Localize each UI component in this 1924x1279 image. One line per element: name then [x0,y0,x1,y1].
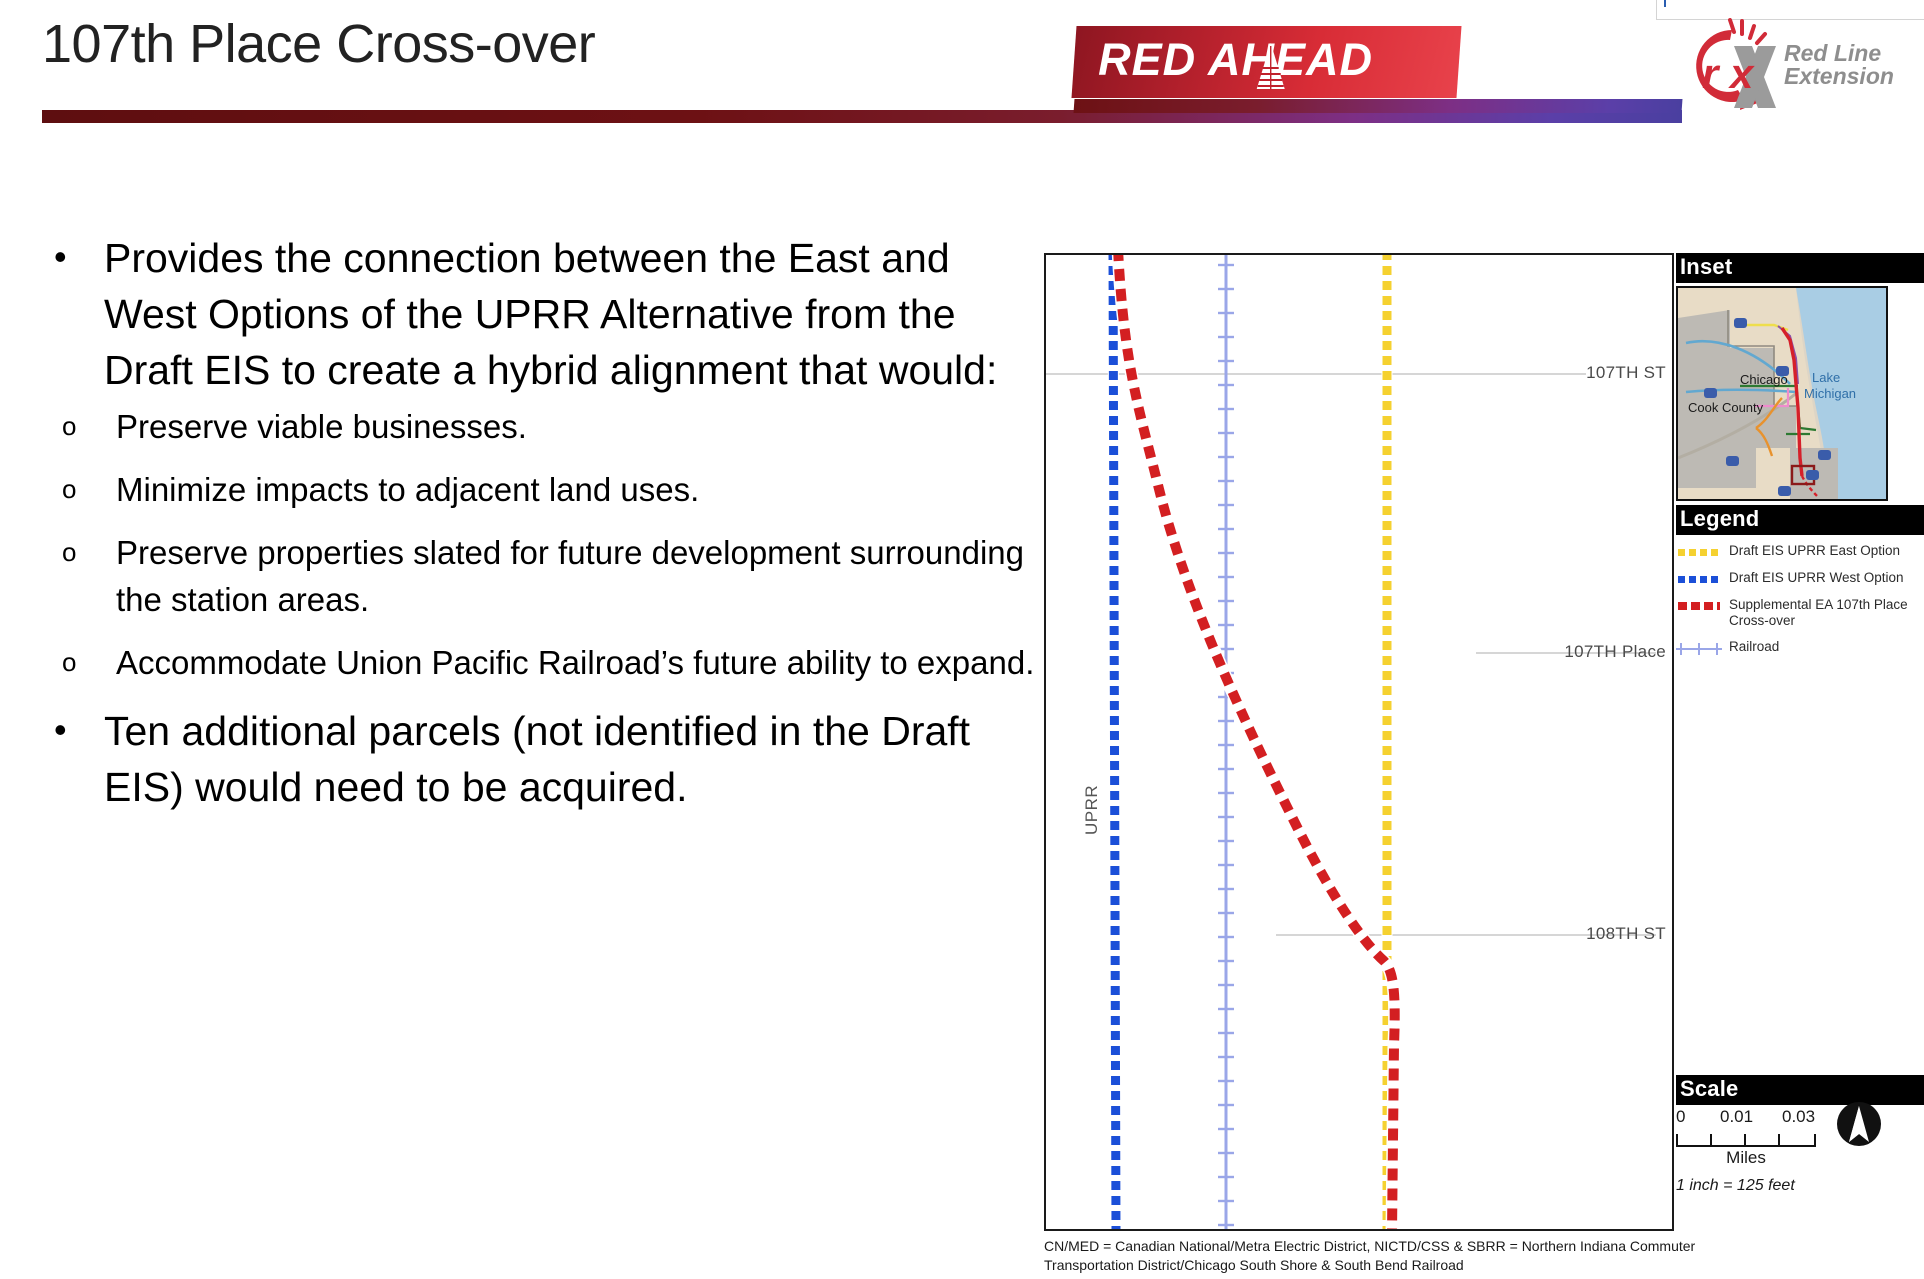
rx-logo: r x Red Line Extension [1672,16,1922,116]
bullet-item: • Provides the connection between the Ea… [42,230,1042,398]
bullet-marker: • [42,703,104,758]
legend-item-label: Supplemental EA 107th Place Cross-over [1722,597,1924,630]
west-option-swatch [1676,570,1722,588]
rx-logo-line1: Red Line [1784,42,1894,65]
ladder-a-icon [1256,42,1286,90]
scale-tick-1: 0.01 [1720,1107,1753,1127]
scale-tick-2: 0.03 [1782,1107,1815,1127]
page-title: 107th Place Cross-over [42,13,595,75]
map-label-uprr: UPRR [1082,785,1102,835]
inset-title: Inset [1676,253,1924,283]
map-label-107th-st: 107TH ST [1586,363,1666,383]
legend-item: Draft EIS UPRR East Option [1676,543,1924,561]
svg-text:x: x [1728,50,1755,97]
svg-text:Cook County: Cook County [1688,400,1764,415]
map-side-panel: Inset [1676,253,1924,1231]
sub-bullet-text: Preserve viable businesses. [116,404,1042,451]
sub-bullet-text: Accommodate Union Pacific Railroad’s fut… [116,640,1042,687]
legend-item-label: Railroad [1722,639,1779,655]
crossover-swatch [1676,597,1722,615]
legend-item-label: Draft EIS UPRR East Option [1722,543,1900,559]
red-ahead-logo-text: RED AHEAD [1098,34,1373,86]
railroad-swatch [1676,639,1722,657]
sub-bullet-marker: o [42,530,116,576]
scale-units-label: Miles [1676,1148,1816,1168]
legend-items: Draft EIS UPRR East Option Draft EIS UPR… [1676,543,1924,657]
legend-item: Draft EIS UPRR West Option [1676,570,1924,588]
sub-bullet-list: o Preserve viable businesses. o Minimize… [42,404,1042,686]
slide-header: 107th Place Cross-over RED AHEAD r x [0,0,1924,128]
red-ahead-logo: RED AHEAD [1071,26,1461,98]
bullet-content-panel: • Provides the connection between the Ea… [42,230,1042,819]
railroad-line [1218,255,1234,1229]
legend-title: Legend [1676,505,1924,535]
bullet-text: Ten additional parcels (not identified i… [104,703,1042,815]
sub-bullet-item: o Minimize impacts to adjacent land uses… [42,467,1042,514]
rx-logo-line2: Extension [1784,65,1894,88]
inset-map[interactable]: Chicago Cook County Lake Michigan [1676,286,1888,501]
legend-item: Supplemental EA 107th Place Cross-over [1676,597,1924,630]
legend-block: Legend Draft EIS UPRR East Option Draft … [1676,505,1924,666]
svg-text:r: r [1702,50,1721,97]
scale-tick-labels: 0 0.01 0.03 [1676,1107,1924,1129]
svg-text:Lake: Lake [1812,370,1840,385]
header-divider-bar-right [1074,99,1683,113]
inset-map-graphic: Chicago Cook County Lake Michigan [1678,288,1886,499]
map-label-107th-place: 107TH Place [1564,642,1666,662]
map-figure: 107TH ST 107TH Place 108TH ST UPRR [1044,253,1674,1231]
scale-tick-0: 0 [1676,1107,1685,1127]
crossover-line [1118,255,1395,1229]
rx-logo-wordmark: Red Line Extension [1784,42,1894,88]
scale-title: Scale [1676,1075,1924,1105]
svg-text:Chicago: Chicago [1740,372,1788,387]
map-footnote: CN/MED = Canadian National/Metra Electri… [1044,1237,1724,1275]
scale-equivalence-label: 1 inch = 125 feet [1676,1177,1924,1195]
west-option-line [1113,255,1116,1229]
sub-bullet-marker: o [42,640,116,686]
map-frame[interactable]: 107TH ST 107TH Place 108TH ST UPRR [1044,253,1674,1231]
bullet-item: • Ten additional parcels (not identified… [42,703,1042,815]
bullet-text: Provides the connection between the East… [104,230,1042,398]
north-arrow-icon [1836,1101,1882,1147]
east-option-swatch [1676,543,1722,561]
scale-block: Scale 0 0.01 0.03 Miles 1 inch = 125 fee… [1676,1075,1924,1195]
sub-bullet-text: Preserve properties slated for future de… [116,530,1042,624]
legend-item: Railroad [1676,639,1924,657]
bullet-marker: • [42,230,104,285]
legend-item-label: Draft EIS UPRR West Option [1722,570,1904,586]
sub-bullet-marker: o [42,404,116,450]
rx-icon: r x [1672,18,1784,114]
sub-bullet-marker: o [42,467,116,513]
sub-bullet-item: o Preserve properties slated for future … [42,530,1042,624]
alignment-map [1046,255,1672,1229]
svg-text:Michigan: Michigan [1804,386,1856,401]
scale-bar [1676,1131,1816,1147]
sub-bullet-item: o Preserve viable businesses. [42,404,1042,451]
sub-bullet-item: o Accommodate Union Pacific Railroad’s f… [42,640,1042,687]
inset-block: Inset [1676,253,1924,501]
sub-bullet-text: Minimize impacts to adjacent land uses. [116,467,1042,514]
map-label-108th-st: 108TH ST [1586,924,1666,944]
